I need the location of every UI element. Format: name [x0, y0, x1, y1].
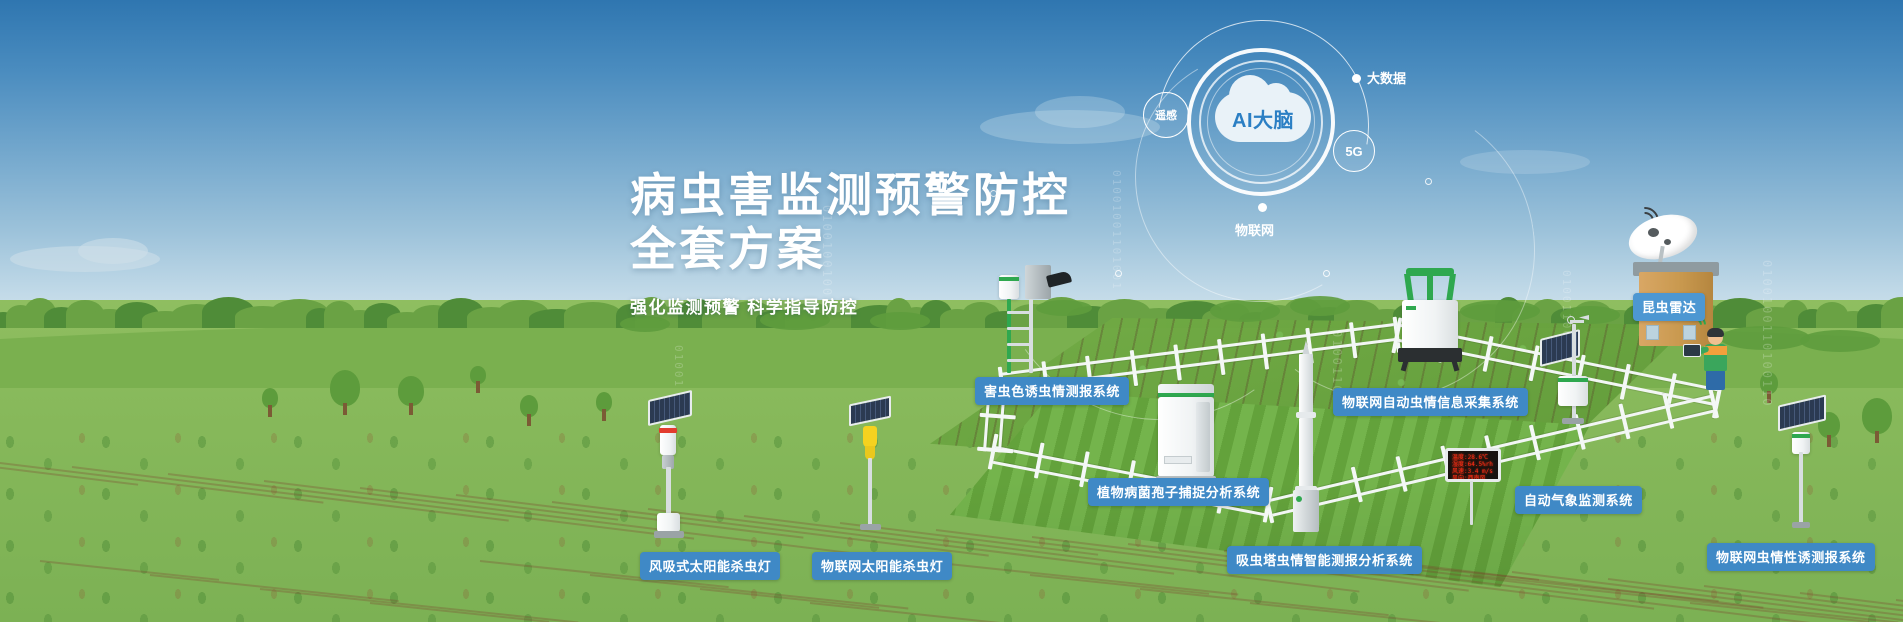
- label-auto-weather-monitor: 自动气象监测系统: [1515, 486, 1642, 514]
- building-window-2: [1646, 325, 1659, 340]
- farmer-tablet-icon: [1683, 344, 1701, 357]
- tree-trunk: [1875, 431, 1879, 443]
- collector-base: [1398, 348, 1462, 362]
- ladder-rung-3: [1007, 343, 1033, 346]
- device-wind-suction-solar-lamp[interactable]: [640, 395, 710, 545]
- treeline-bump: [1881, 297, 1903, 328]
- tree: [520, 395, 538, 427]
- label-iot-solar-lamp: 物联网太阳能杀虫灯: [812, 552, 952, 580]
- led-line-windspeed: 风速:3.4 m/s: [1452, 468, 1494, 475]
- ladder-rung-1: [1007, 311, 1033, 314]
- ladder-rung-4: [1007, 359, 1033, 362]
- collector-stand-leg-right: [1452, 361, 1460, 372]
- node-5g[interactable]: 5G: [1333, 130, 1375, 172]
- label-color-lure-forecast: 害虫色诱虫情测报系统: [975, 377, 1129, 405]
- lamp-yellow-funnel: [863, 426, 877, 448]
- pheromone-pole: [1799, 452, 1803, 524]
- tree: [596, 392, 612, 422]
- tree-trunk: [343, 403, 347, 415]
- label-iot-pest-collector: 物联网自动虫情信息采集系统: [1333, 388, 1528, 416]
- bush: [1800, 330, 1880, 352]
- node-remote-sensing-label: 遥感: [1155, 107, 1177, 123]
- label-pheromone-forecast: 物联网虫情性诱测报系统: [1707, 543, 1875, 571]
- device-iot-pest-collector[interactable]: [1390, 268, 1470, 373]
- lamp-pole: [868, 458, 872, 526]
- label-wind-suction-solar-lamp: 风吸式太阳能杀虫灯: [640, 552, 780, 580]
- collector-leg-green-2: [1427, 274, 1433, 302]
- label-spore-capture: 植物病菌孢子捕捉分析系统: [1088, 478, 1269, 506]
- tree: [262, 388, 278, 418]
- lamp-control-box: [657, 513, 680, 532]
- tree-crown: [330, 370, 360, 406]
- tower-upper-column: [1299, 354, 1313, 414]
- node-remote-sensing[interactable]: 遥感: [1143, 92, 1189, 138]
- collector-logo: [1406, 306, 1416, 310]
- tree: [330, 370, 360, 416]
- tree-crown: [398, 376, 424, 406]
- tree: [1862, 398, 1892, 444]
- lamp-red-strip: [659, 428, 677, 433]
- orbit-endpoint-bottom-right: [1323, 270, 1330, 277]
- ai-brain-graphic: AI大脑 遥感 5G 大数据 物联网: [1095, 30, 1495, 260]
- led-line-humidity: 湿度:64.5%rh: [1452, 461, 1494, 468]
- ai-brain-label: AI大脑: [1215, 104, 1311, 133]
- tree-trunk: [268, 405, 272, 417]
- node-iot-label: 物联网: [1235, 220, 1274, 239]
- radar-dish-detail-2: [1664, 239, 1671, 245]
- radar-dish-detail-1: [1648, 228, 1659, 237]
- lamp-base: [860, 524, 881, 530]
- tree: [398, 376, 424, 416]
- led-line-temperature: 温度:28.6℃: [1452, 454, 1494, 461]
- device-color-lure-forecast[interactable]: [985, 265, 1075, 375]
- tower-lower-column: [1299, 418, 1313, 488]
- tower-indicator: [1296, 496, 1302, 502]
- binary-streak-3: 0100100110100110: [1760, 260, 1774, 408]
- lure-green-strip: [999, 277, 1019, 281]
- cloud-shape-2: [78, 238, 148, 264]
- spore-cabinet-door: [1196, 402, 1210, 472]
- tree-trunk: [476, 381, 480, 393]
- node-big-data-label: 大数据: [1367, 68, 1406, 87]
- pheromone-base: [1792, 522, 1810, 528]
- tree-crown: [1862, 398, 1892, 434]
- orbit-endpoint-right: [1425, 178, 1432, 185]
- headline-line-1: 病虫害监测预警防控: [630, 169, 1071, 221]
- collector-leg-green-3: [1446, 274, 1456, 302]
- collector-leg-green-1: [1404, 274, 1414, 302]
- led-line-winddirection: 风向:西南风: [1452, 475, 1494, 482]
- device-spore-capture[interactable]: [1152, 384, 1220, 482]
- label-suction-tower: 吸虫塔虫情智能测报分析系统: [1227, 546, 1422, 574]
- solar-panel-icon: [1778, 394, 1826, 431]
- device-weather-station[interactable]: [1540, 320, 1612, 430]
- device-pheromone-trap[interactable]: [1768, 400, 1848, 540]
- collector-stand-leg-left: [1401, 361, 1409, 372]
- farmer-legs: [1706, 370, 1725, 390]
- tree-trunk: [602, 409, 606, 421]
- banner-illustration: 0100100100110100100110100101001001101001…: [0, 0, 1903, 622]
- spore-cabinet-plate: [1164, 456, 1192, 464]
- node-5g-label: 5G: [1345, 144, 1362, 159]
- farmer-hair: [1707, 328, 1724, 337]
- pheromone-green-strip: [1792, 434, 1810, 438]
- page-title: 病虫害监测预警防控 全套方案: [630, 168, 1071, 277]
- device-iot-solar-lamp[interactable]: [845, 400, 915, 540]
- tree-trunk: [527, 414, 531, 426]
- headline-line-2: 全套方案: [630, 223, 826, 275]
- node-iot-dot: [1258, 203, 1267, 212]
- binary-streak-6: 01001: [672, 345, 685, 388]
- led-board-pole: [1470, 481, 1473, 525]
- weather-green-strip: [1558, 378, 1588, 382]
- orbit-endpoint-bottom-left: [1115, 270, 1122, 277]
- weather-base: [1562, 418, 1584, 424]
- farmer-figure: [1695, 330, 1735, 392]
- tree: [470, 366, 486, 394]
- tree-trunk: [409, 403, 413, 415]
- led-display-board: 温度:28.6℃ 湿度:64.5%rh 风速:3.4 m/s 风向:西南风: [1445, 448, 1501, 482]
- ladder-rung-2: [1007, 327, 1033, 330]
- lamp-base: [654, 531, 684, 538]
- solar-panel-icon: [849, 396, 891, 427]
- node-big-data-dot: [1352, 74, 1361, 83]
- anemometer-icon: [1567, 316, 1575, 324]
- solar-panel-icon: [648, 390, 692, 426]
- bush: [620, 316, 670, 332]
- label-insect-radar: 昆虫雷达: [1633, 293, 1705, 321]
- device-suction-tower[interactable]: [1288, 340, 1328, 540]
